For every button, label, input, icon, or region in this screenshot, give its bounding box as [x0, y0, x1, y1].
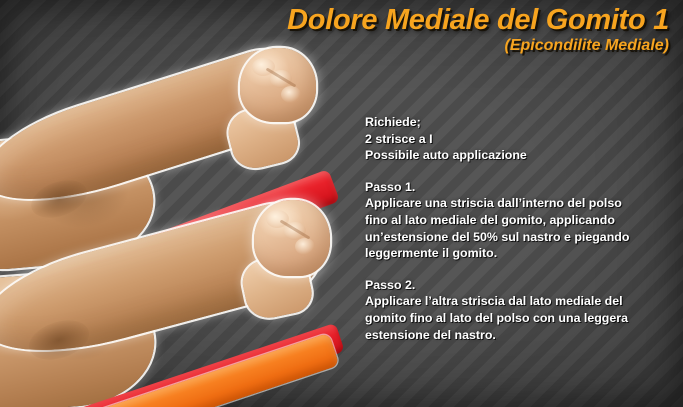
step-1-line-1: Applicare una striscia dall’interno del …: [365, 195, 673, 212]
requirements-block: Richiede; 2 strisce a I Possibile auto a…: [365, 114, 673, 164]
step-2-line-1: Applicare l’altra striscia dal lato medi…: [365, 293, 673, 310]
step-2-heading: Passo 2.: [365, 277, 673, 294]
step-2-line-2: gomito fino al lato del polso con una le…: [365, 310, 673, 327]
step-1-block: Passo 1. Applicare una striscia dall’int…: [365, 179, 673, 262]
step-1-line-2: fino al lato mediale del gomito, applica…: [365, 212, 673, 229]
poster-subtitle: (Epicondilite Mediale): [287, 37, 669, 55]
requirements-line-3: Possibile auto applicazione: [365, 147, 673, 164]
step-1-line-3: un’estensione del 50% sul nastro e piega…: [365, 229, 673, 246]
step-1-heading: Passo 1.: [365, 179, 673, 196]
title-block: Dolore Mediale del Gomito 1 (Epicondilit…: [287, 4, 669, 56]
instructions-column: Richiede; 2 strisce a I Possibile auto a…: [365, 114, 673, 343]
step-2-line-3: estensione del nastro.: [365, 327, 673, 344]
requirements-line-2: 2 strisce a I: [365, 131, 673, 148]
requirements-line-1: Richiede;: [365, 114, 673, 131]
poster-title: Dolore Mediale del Gomito 1: [287, 4, 669, 36]
step-1-line-4: leggermente il gomito.: [365, 245, 673, 262]
poster-canvas: Dolore Mediale del Gomito 1 (Epicondilit…: [0, 0, 683, 407]
step-2-block: Passo 2. Applicare l’altra striscia dal …: [365, 277, 673, 343]
